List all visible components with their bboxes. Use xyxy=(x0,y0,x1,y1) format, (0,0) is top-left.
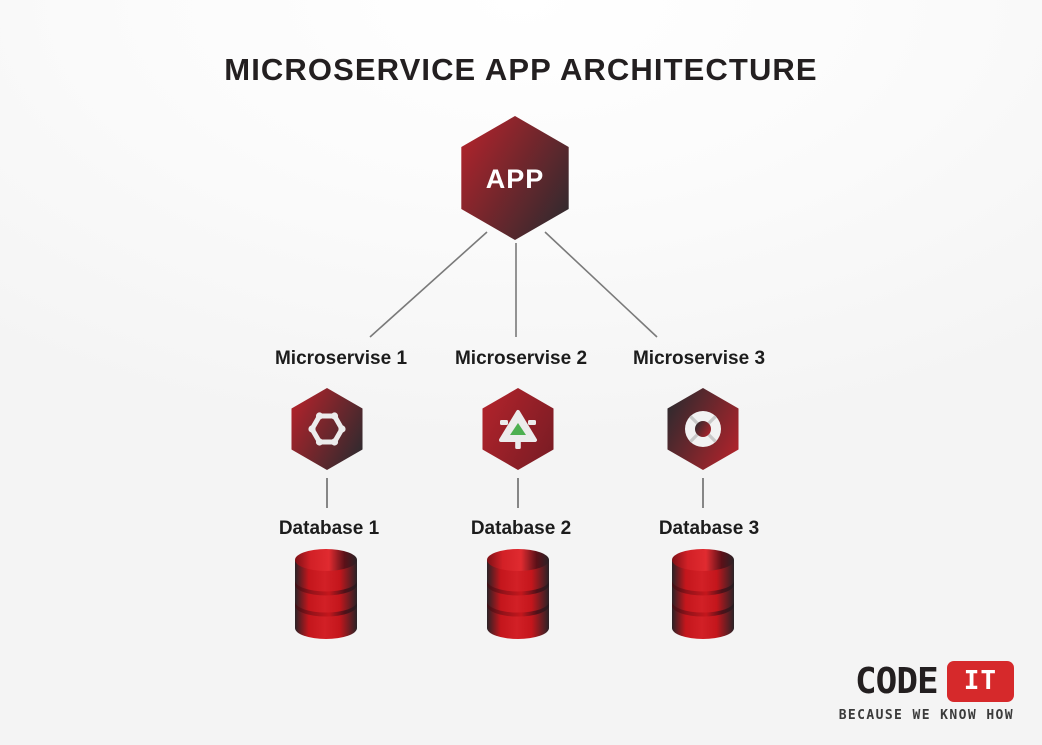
database-nodes-group[interactable] xyxy=(295,549,734,639)
app-node-group[interactable]: APP xyxy=(461,116,568,240)
microservice-node-1[interactable] xyxy=(291,388,362,470)
database-cylinder-top xyxy=(487,549,549,571)
database-cylinder-body xyxy=(672,560,734,639)
ring-donut-hole-icon xyxy=(695,421,711,437)
database-label-2: Database 2 xyxy=(471,518,571,540)
triangle-arm-icon xyxy=(528,420,536,425)
hexagon-ring-node-icon xyxy=(316,438,323,445)
hexagon-ring-node-icon xyxy=(308,425,315,432)
triangle-arm-icon xyxy=(500,420,508,425)
database-node-1[interactable] xyxy=(295,549,357,639)
hexagon-ring-node-icon xyxy=(331,438,338,445)
diagram-nodes-layer: APP xyxy=(0,0,1042,745)
logo-tagline: BECAUSE WE KNOW HOW xyxy=(839,708,1014,723)
microservice-nodes-group[interactable] xyxy=(291,388,738,470)
database-cylinder-top xyxy=(672,549,734,571)
microservice-node-3[interactable] xyxy=(667,388,738,470)
microservice-label-3: Microservise 3 xyxy=(633,348,765,370)
microservice-hexagon-1[interactable] xyxy=(291,388,362,470)
microservice-label-2: Microservise 2 xyxy=(455,348,587,370)
hexagon-ring-node-icon xyxy=(316,412,323,419)
hexagon-ring-node-icon xyxy=(331,412,338,419)
database-cylinder-body xyxy=(295,560,357,639)
microservice-node-2[interactable] xyxy=(482,388,553,470)
logo-wordmark: CODE IT xyxy=(839,661,1014,702)
database-label-3: Database 3 xyxy=(659,518,759,540)
database-cylinder-top xyxy=(295,549,357,571)
database-label-1: Database 1 xyxy=(279,518,379,540)
database-node-2[interactable] xyxy=(487,549,549,639)
database-node-3[interactable] xyxy=(672,549,734,639)
app-node-label: APP xyxy=(486,164,545,194)
logo-code-text: CODE xyxy=(855,664,938,700)
hexagon-ring-node-icon xyxy=(338,425,345,432)
brand-logo: CODE IT BECAUSE WE KNOW HOW xyxy=(839,661,1014,723)
microservice-label-1: Microservise 1 xyxy=(275,348,407,370)
database-cylinder-body xyxy=(487,560,549,639)
logo-it-badge: IT xyxy=(947,661,1014,702)
